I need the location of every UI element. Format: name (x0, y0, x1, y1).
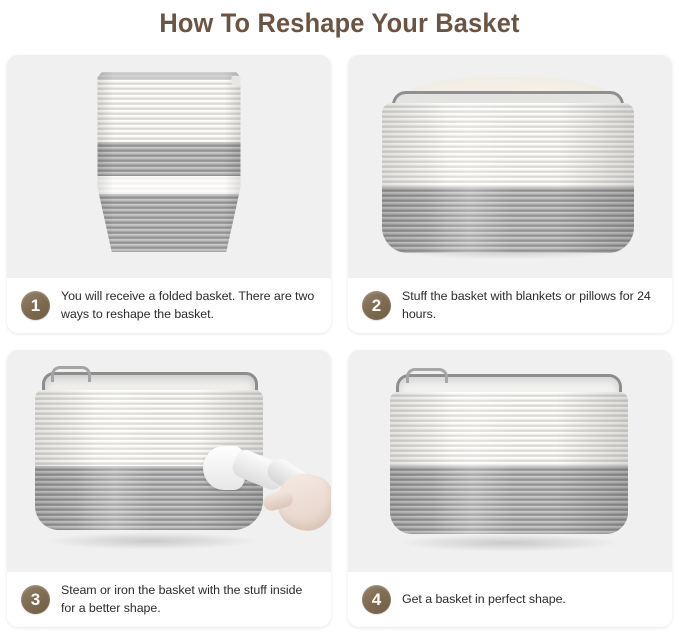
steps-grid: 1 You will receive a folded basket. Ther… (7, 55, 672, 625)
step-caption-text-4: Get a basket in perfect shape. (402, 591, 566, 609)
fold-right-shade (225, 72, 241, 252)
page-title: How To Reshape Your Basket (20, 0, 658, 46)
p1-stage (7, 55, 331, 278)
folded-basket-shape (98, 72, 241, 252)
step-caption-text-3: Steam or iron the basket with the stuff … (61, 582, 319, 617)
step-caption-3: 3 Steam or iron the basket with the stuf… (7, 572, 331, 627)
step-card-3: 3 Steam or iron the basket with the stuf… (7, 350, 331, 627)
fold-white-band-upper (98, 80, 241, 142)
p3-stage (7, 350, 331, 572)
garment-steamer (203, 442, 327, 530)
step-caption-4: 4 Get a basket in perfect shape. (348, 572, 672, 627)
p2-basket-body (382, 103, 634, 253)
p4-gray-rope-band (390, 466, 628, 534)
fold-top-edge (98, 72, 241, 80)
stuffed-basket-image (348, 55, 672, 278)
step-number-badge-4: 4 (362, 585, 391, 614)
p2-white-rope-band (382, 103, 634, 187)
step-number-badge-1: 1 (21, 291, 50, 320)
step-card-1: 1 You will receive a folded basket. Ther… (7, 55, 331, 333)
p2-gray-rope-band (382, 187, 634, 253)
p4-basket-body (390, 392, 628, 534)
fold-corner-nub (232, 76, 241, 85)
step-number-badge-2: 2 (362, 291, 391, 320)
how-to-reshape-basket-infographic: How To Reshape Your Basket (0, 0, 679, 633)
step-card-2: 2 Stuff the basket with blankets or pill… (348, 55, 672, 333)
p3-basket-handle (51, 366, 91, 382)
fold-left-shade (98, 72, 114, 252)
p4-rope-body (390, 392, 628, 534)
p4-floor-shadow (394, 534, 624, 552)
step-caption-text-1: You will receive a folded basket. There … (61, 288, 319, 323)
p2-stage (348, 55, 672, 278)
fold-gray-band-upper (98, 142, 241, 176)
p2-rope-body (382, 103, 634, 253)
step-caption-text-2: Stuff the basket with blankets or pillow… (402, 288, 660, 323)
step-caption-1: 1 You will receive a folded basket. Ther… (7, 278, 331, 333)
fold-white-stripe (98, 176, 241, 194)
step-caption-2: 2 Stuff the basket with blankets or pill… (348, 278, 672, 333)
step-card-4: 4 Get a basket in perfect shape. (348, 350, 672, 627)
p4-basket-handle (406, 368, 448, 383)
step-number-badge-3: 3 (21, 585, 50, 614)
p3-floor-shadow (41, 532, 261, 550)
folded-flat-basket-image (7, 55, 331, 278)
p4-white-rope-band (390, 392, 628, 466)
p4-stage (348, 350, 672, 572)
fold-gray-band-lower (98, 194, 241, 252)
steaming-basket-image (7, 350, 331, 572)
finished-basket-image (348, 350, 672, 572)
